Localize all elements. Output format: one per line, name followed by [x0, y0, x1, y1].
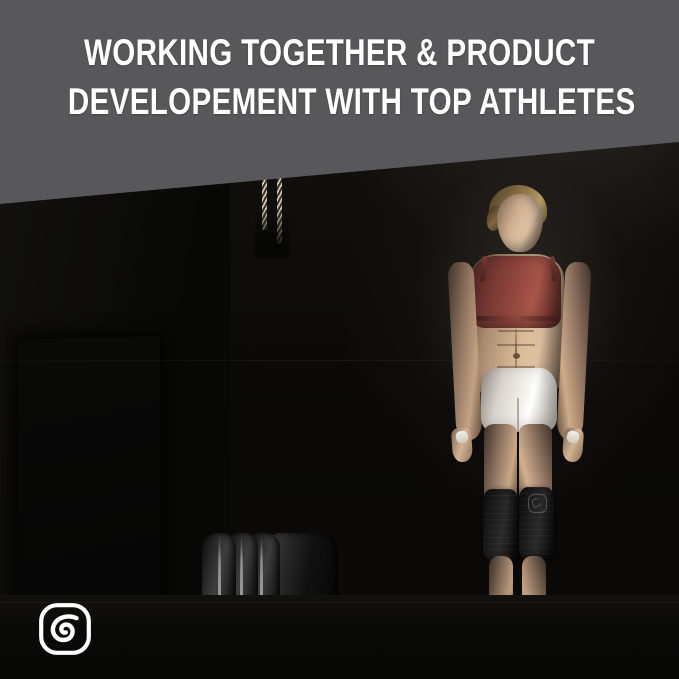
gym-floor: [0, 595, 679, 679]
ab-crease: [497, 344, 535, 346]
knee-sleeve-brand-icon: [528, 494, 547, 513]
sleeve-ribbing: [483, 489, 518, 561]
navel: [513, 353, 520, 359]
shorts-crease: [517, 398, 519, 432]
ab-crease: [498, 330, 534, 332]
athlete-shorts: [481, 368, 557, 432]
header-text-block: WORKING TOGETHER & PRODUCT DEVELOPEMENT …: [0, 0, 679, 126]
logo-spiral-wave: [53, 616, 77, 640]
rehband-logo: [38, 602, 92, 656]
product-banner: WORKING TOGETHER & PRODUCT DEVELOPEMENT …: [0, 0, 679, 679]
floor-wall-line: [0, 602, 679, 603]
sports-bra-band: [476, 316, 557, 321]
knee-sleeve-left: [483, 489, 518, 561]
logo-rounded-square: [41, 605, 89, 653]
headline-line-2: DEVELOPEMENT WITH TOP ATHLETES: [68, 77, 611, 126]
headline-line-1: WORKING TOGETHER & PRODUCT: [68, 28, 611, 77]
